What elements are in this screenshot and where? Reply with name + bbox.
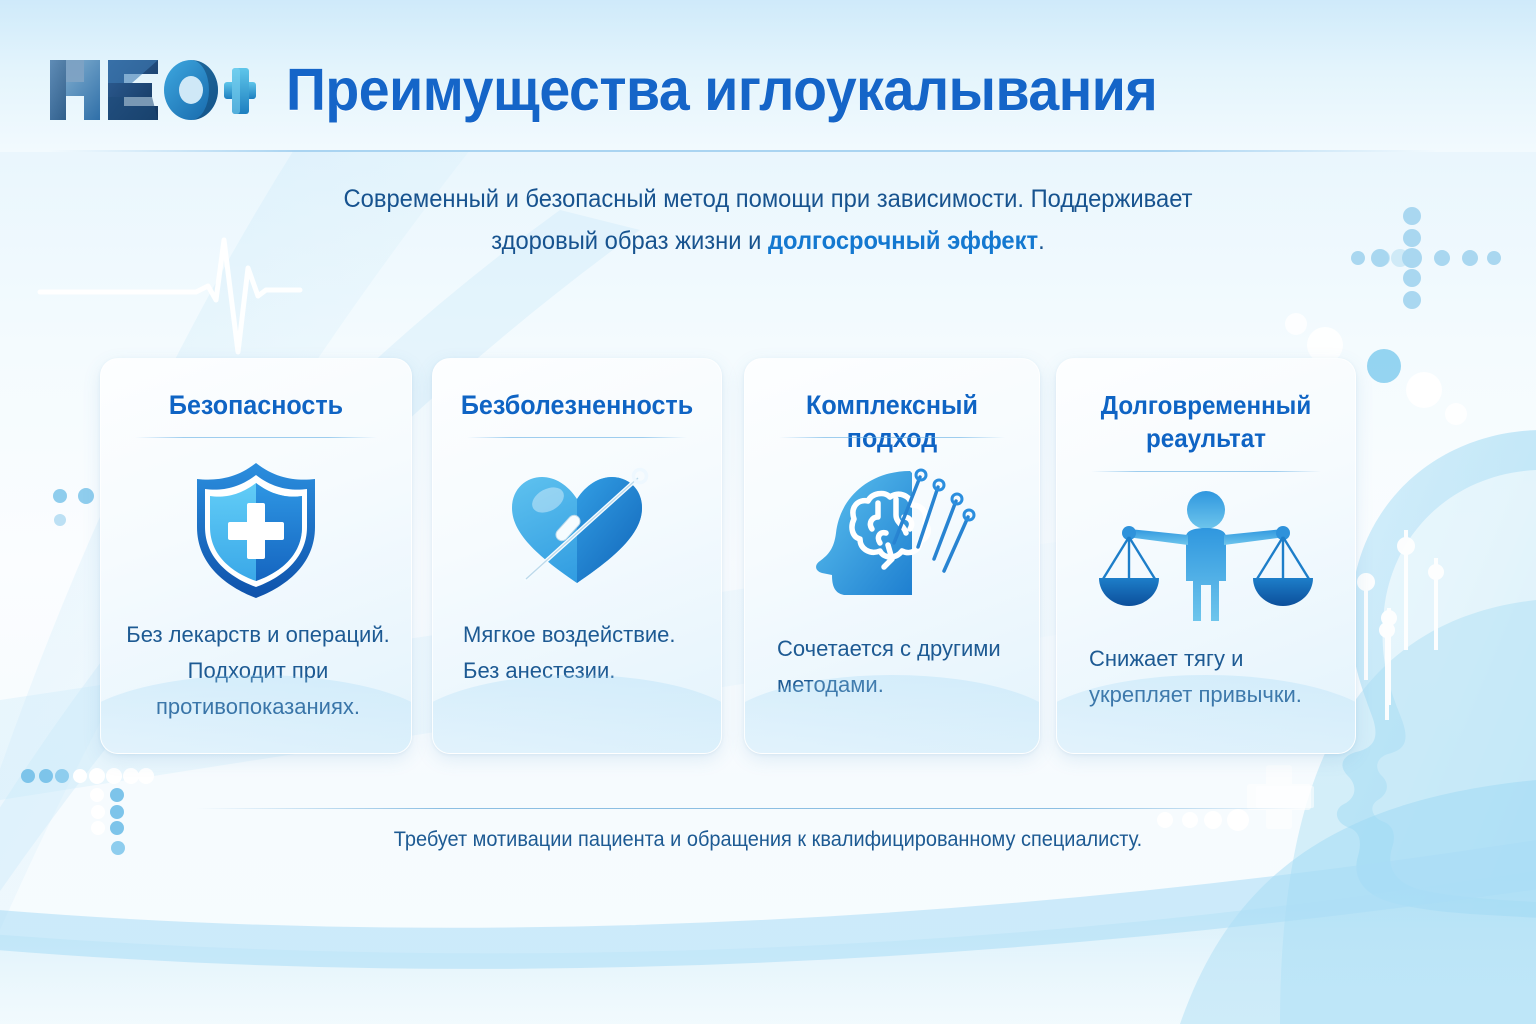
card-title-divider	[1091, 471, 1321, 472]
subtitle-block: Современный и безопасный метод помощи пр…	[293, 178, 1243, 262]
card-long-term-result[interactable]: Долговременный реаультат	[1056, 358, 1356, 754]
footer-divider	[196, 808, 1308, 809]
header-divider	[48, 150, 1438, 152]
card-title-divider	[135, 437, 377, 438]
card-title: Безболезненность	[452, 389, 701, 422]
card-title-divider	[467, 437, 687, 438]
subtitle-line-2-suffix: .	[1038, 227, 1045, 255]
bottom-arc	[0, 860, 1536, 1024]
heartbeat-line	[40, 240, 300, 352]
neo-plus-logo[interactable]	[46, 52, 256, 128]
small-plus-watermark	[1256, 786, 1314, 808]
infographic-canvas: Преимущества иглоукалывания Современный …	[0, 0, 1536, 1024]
header-bar: Преимущества иглоукалывания	[0, 0, 1536, 152]
card-text: Сочетается с другими методами.	[777, 631, 1021, 703]
subtitle-line-1: Современный и безопасный метод помощи пр…	[343, 185, 1192, 213]
bottom-right-shape	[1180, 780, 1536, 1024]
medical-plus-watermark	[1247, 765, 1311, 829]
card-complex-approach[interactable]: Комплексный подход	[744, 358, 1040, 754]
page-title: Преимущества иглоукалывания	[286, 56, 1157, 124]
dot-grid-bottom-left	[21, 768, 154, 855]
card-text: Снижает тягу и укрепляет привычки.	[1089, 641, 1337, 713]
card-title: Комплексный подход	[765, 389, 1020, 455]
card-text: Мягкое воздействие. Без анестезии.	[463, 617, 703, 689]
card-text: Без лекарств и операций. Подходит при пр…	[123, 617, 393, 725]
card-title-divider	[779, 437, 1005, 438]
person-scales-icon	[1091, 485, 1321, 625]
card-safety[interactable]: Безопасность	[100, 358, 412, 754]
head-brain-needles-icon	[792, 455, 992, 605]
card-title: Безопасность	[121, 389, 391, 422]
subtitle-line-2-prefix: здоровый образ жизни и	[491, 227, 768, 255]
subtitle-highlight: долгосрочный эффект	[768, 227, 1038, 255]
dotted-cross-pattern	[1351, 207, 1501, 309]
heart-needle-icon	[492, 455, 662, 605]
shield-cross-icon	[181, 455, 331, 605]
card-title: Долговременный реаультат	[1077, 389, 1336, 455]
footer-note: Требует мотивации пациента и обращения к…	[293, 828, 1243, 852]
card-painless[interactable]: Безболезненность	[432, 358, 722, 754]
benefit-cards: Безопасность	[0, 358, 1536, 758]
